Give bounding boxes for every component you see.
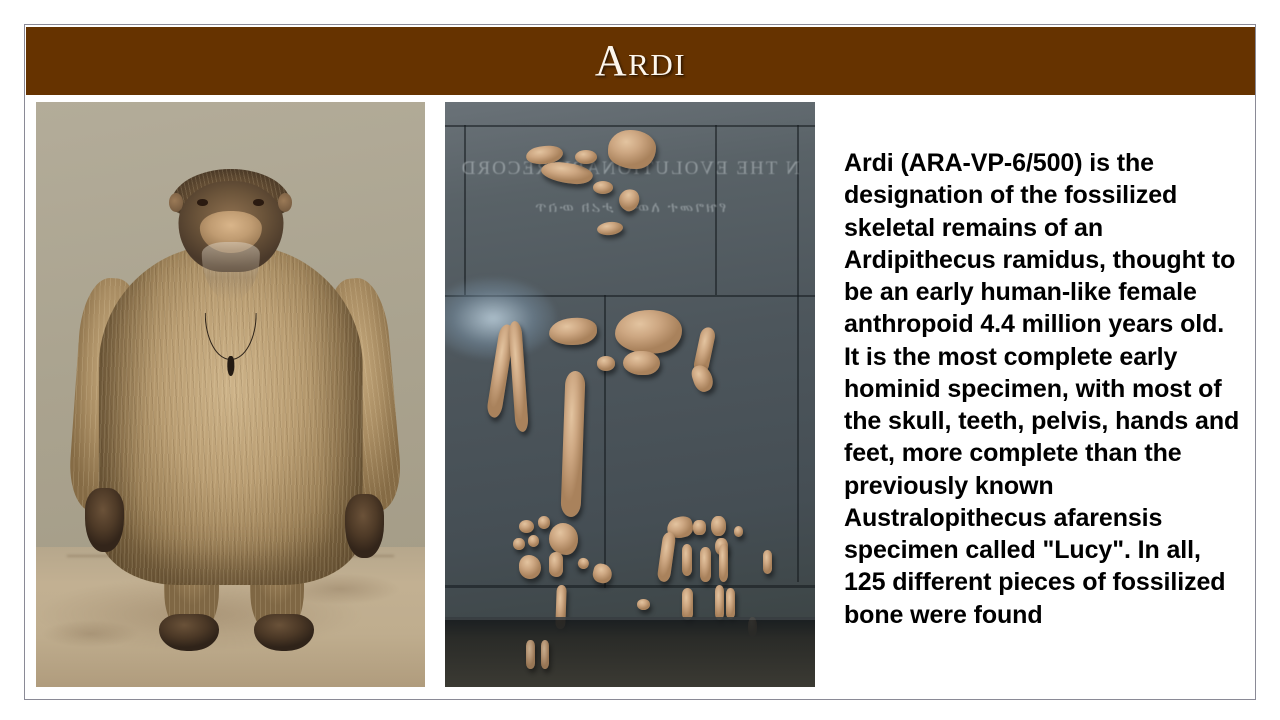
hominid-left-eye [197, 199, 207, 205]
bone-fragment [711, 516, 726, 536]
bone-fragment [597, 356, 616, 370]
bone-fragment [715, 585, 724, 620]
hominid-left-hand [85, 488, 124, 552]
hominid-right-hand [345, 494, 384, 558]
hominid-right-eye [253, 199, 263, 205]
bone-fragment [528, 535, 539, 547]
hominid-right-ear [278, 193, 292, 212]
hominid-left-foot [159, 614, 219, 650]
bone-fragment [693, 520, 706, 535]
bone-fragment [513, 538, 524, 550]
case-seam [445, 585, 815, 588]
case-seam [604, 295, 606, 588]
bone-fragment [593, 181, 613, 194]
case-seam [797, 125, 799, 581]
case-seam [445, 125, 815, 127]
page-title: Ardi [595, 39, 686, 83]
bone-fragment [719, 544, 729, 582]
hominid-right-foot [254, 614, 314, 650]
fossil-display-case-image: N THE EVOLUTIONARY RECORD የዝግመተ ለውጥ ታሪክ … [445, 102, 815, 687]
bone-fragment [575, 150, 597, 164]
bone-fragment [519, 555, 541, 578]
bone-fragment [519, 520, 534, 533]
bone-fragment [726, 588, 735, 620]
bone-fragment [734, 526, 744, 537]
bone-fragment [608, 130, 656, 169]
bone-fragment [526, 640, 534, 669]
bone-fragment [623, 351, 660, 376]
hominid-reconstruction-image [36, 102, 425, 687]
hominid-left-ear [169, 193, 183, 212]
slide-title-bar: Ardi [26, 27, 1255, 95]
bone-fragment [682, 544, 692, 576]
slide-body-text: Ardi (ARA-VP-6/500) is the designation o… [844, 147, 1244, 631]
bone-fragment [682, 588, 693, 620]
presentation-slide: Ardi N THE EVOLUTIONARY [24, 24, 1256, 700]
bone-fragment [700, 547, 710, 582]
case-base-shelf [445, 617, 815, 687]
bone-fragment [763, 550, 772, 575]
bone-fragment [541, 640, 549, 669]
bone-fragment [549, 552, 564, 577]
bone-fragment [637, 599, 650, 610]
